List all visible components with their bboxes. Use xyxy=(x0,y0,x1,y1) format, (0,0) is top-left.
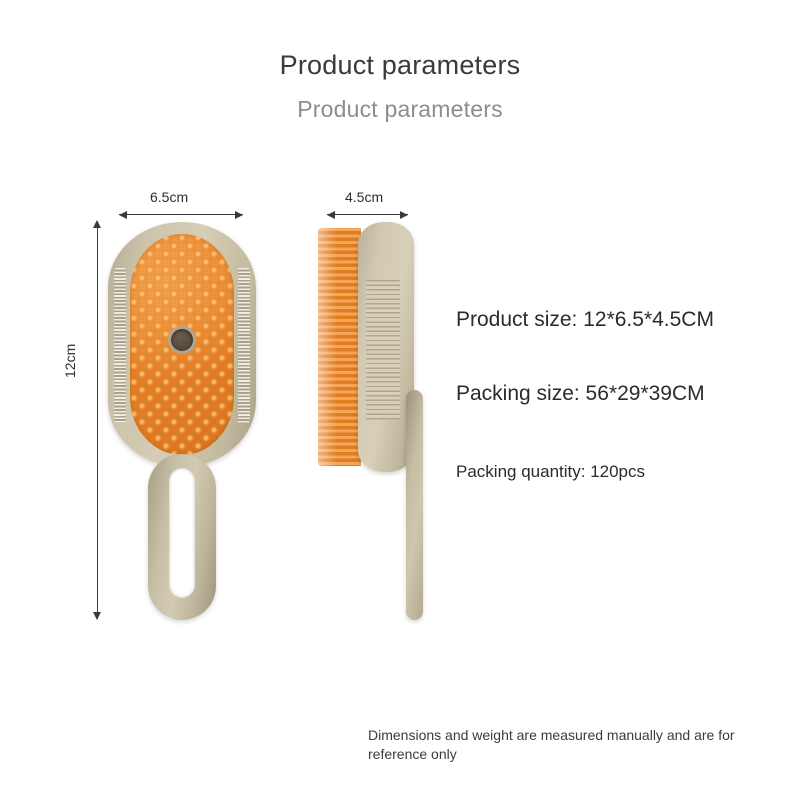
product-parameters-infographic: Product parameters Product parameters 6.… xyxy=(0,0,800,800)
arrow-left-icon xyxy=(119,211,127,219)
dimension-line-side-width xyxy=(327,214,408,215)
comb-teeth-left xyxy=(114,268,126,423)
spec-packing-size: Packing size: 56*29*39CM xyxy=(456,382,705,406)
bristles xyxy=(318,228,361,466)
spec-packing-quantity: Packing quantity: 120pcs xyxy=(456,462,645,482)
center-hole xyxy=(168,326,196,354)
product-side-view xyxy=(310,222,450,622)
spec-product-size: Product size: 12*6.5*4.5CM xyxy=(456,308,714,332)
comb-teeth-right xyxy=(238,268,250,423)
arrow-left-icon xyxy=(327,211,335,219)
dimension-label-height: 12cm xyxy=(62,344,78,378)
brush-head-shell xyxy=(108,222,256,467)
arrow-right-icon xyxy=(400,211,408,219)
page-title: Product parameters xyxy=(0,50,800,81)
arrow-right-icon xyxy=(235,211,243,219)
dimension-label-front-width: 6.5cm xyxy=(150,189,188,205)
body-ridges xyxy=(366,280,400,420)
page-subtitle: Product parameters xyxy=(0,96,800,123)
dimension-line-front-width xyxy=(119,214,243,215)
dimension-label-side-width: 4.5cm xyxy=(345,189,383,205)
brush-handle-loop xyxy=(148,454,216,620)
measurement-disclaimer: Dimensions and weight are measured manua… xyxy=(368,726,768,764)
dimension-line-height xyxy=(97,223,98,619)
product-front-view xyxy=(100,222,266,622)
handle-opening xyxy=(169,468,195,598)
brush-handle-side xyxy=(406,390,423,620)
